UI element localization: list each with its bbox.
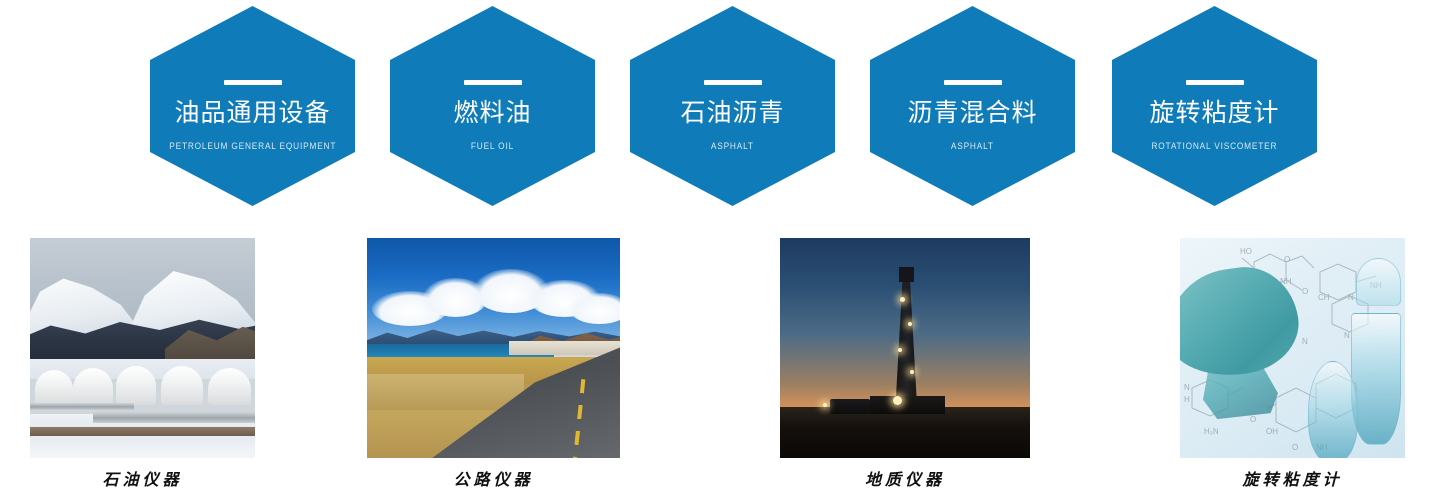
- photo-highway: [367, 238, 620, 458]
- svg-text:N: N: [1302, 337, 1308, 346]
- hexagon-divider-icon: [704, 80, 762, 85]
- category-hexagon-rotational-viscometer[interactable]: 旋转粘度计 ROTATIONAL VISCOMETER: [1112, 6, 1317, 206]
- svg-text:N: N: [1344, 331, 1350, 340]
- gallery-caption: 旋转粘度计: [1180, 466, 1405, 490]
- category-hexagon-petroleum-general-equipment[interactable]: 油品通用设备 PETROLEUM GENERAL EQUIPMENT: [150, 6, 355, 206]
- svg-text:O: O: [1302, 287, 1308, 296]
- photo-laboratory: HO O NH HO O NH CH N N N N H H₂N O OH O: [1180, 238, 1405, 458]
- category-hexagon-fuel-oil[interactable]: 燃料油 FUEL OIL: [390, 6, 595, 206]
- category-hexagon-row: 油品通用设备 PETROLEUM GENERAL EQUIPMENT 燃料油 F…: [0, 0, 1440, 215]
- svg-text:H₂N: H₂N: [1204, 427, 1219, 436]
- category-title: 油品通用设备: [174, 100, 330, 128]
- gallery-card-geological-instruments[interactable]: 地质仪器: [780, 238, 1030, 458]
- category-subtitle: FUEL OIL: [471, 141, 514, 151]
- hexagon-divider-icon: [1186, 80, 1244, 85]
- category-title: 燃料油: [453, 100, 531, 128]
- svg-text:HO: HO: [1240, 247, 1252, 256]
- gallery-caption: 石油仪器: [30, 466, 255, 490]
- category-hexagon-asphalt[interactable]: 石油沥青 ASPHALT: [630, 6, 835, 206]
- category-subtitle: PETROLEUM GENERAL EQUIPMENT: [169, 141, 336, 151]
- svg-text:CH: CH: [1318, 293, 1330, 302]
- category-title: 沥青混合料: [907, 100, 1037, 128]
- gallery-card-highway-instruments[interactable]: 公路仪器: [367, 238, 620, 458]
- category-title: 石油沥青: [680, 100, 784, 128]
- svg-text:O: O: [1292, 443, 1298, 452]
- hexagon-divider-icon: [944, 80, 1002, 85]
- svg-text:OH: OH: [1266, 427, 1278, 436]
- svg-text:H: H: [1184, 395, 1190, 404]
- svg-text:N: N: [1348, 293, 1354, 302]
- photo-refinery: [30, 238, 255, 458]
- svg-text:N: N: [1184, 383, 1190, 392]
- category-hexagon-asphalt-mixture[interactable]: 沥青混合料 ASPHALT: [870, 6, 1075, 206]
- svg-text:O: O: [1284, 255, 1290, 264]
- photo-drilling-rig: [780, 238, 1030, 458]
- gallery-caption: 地质仪器: [780, 466, 1030, 490]
- gallery-caption: 公路仪器: [367, 466, 620, 490]
- svg-text:O: O: [1250, 415, 1256, 424]
- hexagon-divider-icon: [224, 80, 282, 85]
- category-subtitle: ASPHALT: [711, 141, 754, 151]
- product-category-banner: 油品通用设备 PETROLEUM GENERAL EQUIPMENT 燃料油 F…: [0, 0, 1440, 500]
- gallery-card-rotational-viscometer[interactable]: HO O NH HO O NH CH N N N N H H₂N O OH O: [1180, 238, 1405, 458]
- category-subtitle: ASPHALT: [951, 141, 994, 151]
- category-title: 旋转粘度计: [1149, 100, 1279, 128]
- gallery-card-petroleum-instruments[interactable]: 石油仪器: [30, 238, 255, 458]
- hexagon-divider-icon: [464, 80, 522, 85]
- category-subtitle: ROTATIONAL VISCOMETER: [1152, 141, 1278, 151]
